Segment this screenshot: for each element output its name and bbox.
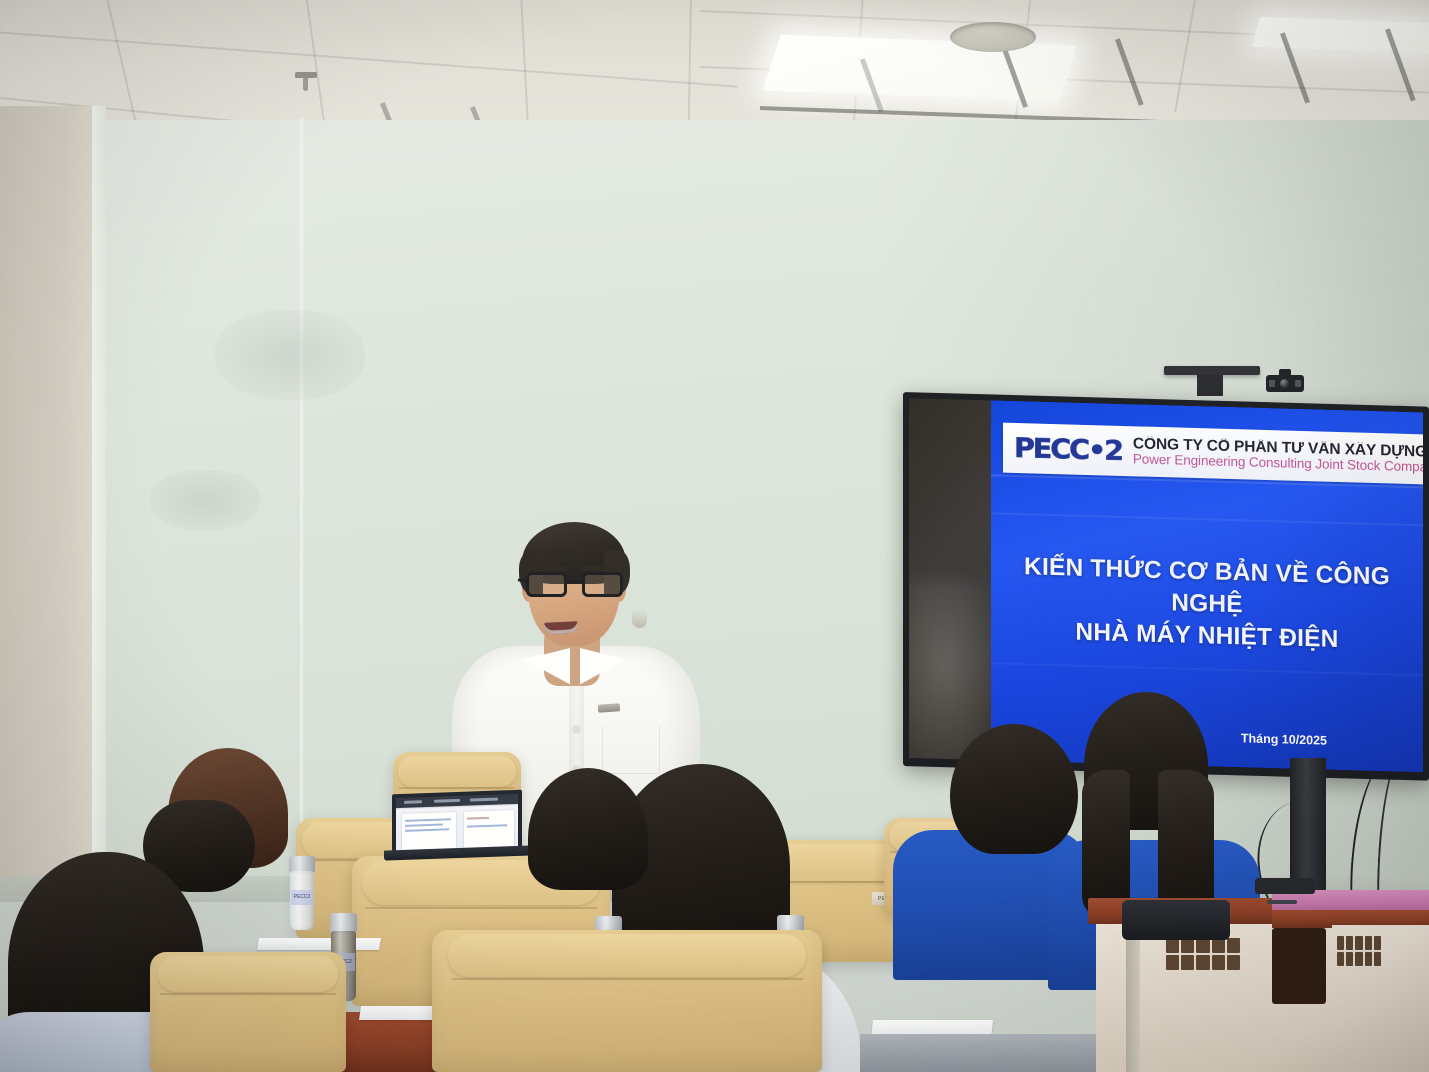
slide-title: KIẾN THỨC CƠ BẢN VỀ CÔNG NGHỆ NHÀ MÁY NH…	[991, 550, 1423, 658]
sprinkler-head-icon	[295, 72, 317, 78]
ceiling-vent-icon	[950, 22, 1036, 52]
wall-edge	[300, 118, 305, 888]
pecc2-logo: PECC•2	[1014, 434, 1122, 464]
device-on-desk[interactable]	[1255, 878, 1315, 894]
glasses-lens-left	[526, 572, 567, 597]
desk-front-right	[860, 1034, 1096, 1072]
desk-cavity-right	[1272, 928, 1326, 1004]
audience-hair-long-left	[1082, 770, 1130, 918]
webcam-lens-icon	[1280, 379, 1289, 388]
screen-letterbox	[909, 398, 991, 760]
presenter-shirt-pocket	[602, 726, 660, 774]
ceiling-light-panel	[763, 35, 1078, 101]
desk-far-right-carved-panel	[1337, 936, 1381, 966]
glasses-bridge	[567, 580, 582, 583]
water-bottle-1[interactable]: PECC2	[289, 856, 315, 930]
webcam-icon	[1266, 375, 1304, 392]
presenter-brow-right	[580, 566, 616, 571]
presenter-laptop[interactable]	[392, 792, 522, 854]
stylus-pen-icon[interactable]	[1267, 900, 1297, 904]
presentation-slide: PECC•2 CÔNG TY CỔ PHẦN TƯ VẤN XÂY DỰNG Đ…	[991, 400, 1423, 772]
left-wall	[0, 106, 92, 896]
wall-smudge-2	[150, 470, 260, 530]
meeting-room-photo: PECC•2 CÔNG TY CỔ PHẦN TƯ VẤN XÂY DỰNG Đ…	[0, 0, 1429, 1072]
presenter-glasses-icon	[524, 572, 628, 598]
wall-smudge	[215, 310, 365, 400]
chair-front-center	[432, 930, 822, 1072]
soundbar-mount	[1164, 366, 1260, 375]
desk-right-carved-panel	[1166, 938, 1240, 970]
webcam-mic-left	[1269, 380, 1275, 387]
presenter-nose	[632, 610, 647, 628]
desk-right-side-panel	[1126, 918, 1140, 1072]
presenter-pen-icon	[598, 703, 621, 713]
slide-date: Tháng 10/2025	[1241, 731, 1327, 747]
ceiling-light-panel-secondary	[1252, 17, 1429, 53]
chair-front-left	[150, 952, 346, 1072]
tablet-stand[interactable]	[1122, 900, 1230, 940]
wall-corner-highlight	[92, 106, 106, 896]
slide-title-line1: KIẾN THỨC CƠ BẢN VỀ CÔNG NGHỆ	[1017, 551, 1397, 625]
slide-header-band: PECC•2 CÔNG TY CỔ PHẦN TƯ VẤN XÂY DỰNG Đ…	[1003, 423, 1423, 485]
webcam-mic-right	[1295, 380, 1301, 387]
glasses-lens-right	[582, 572, 623, 597]
presenter-brow-left	[532, 566, 568, 571]
paper-small-mid	[257, 938, 381, 950]
laptop-screen[interactable]	[396, 794, 518, 852]
